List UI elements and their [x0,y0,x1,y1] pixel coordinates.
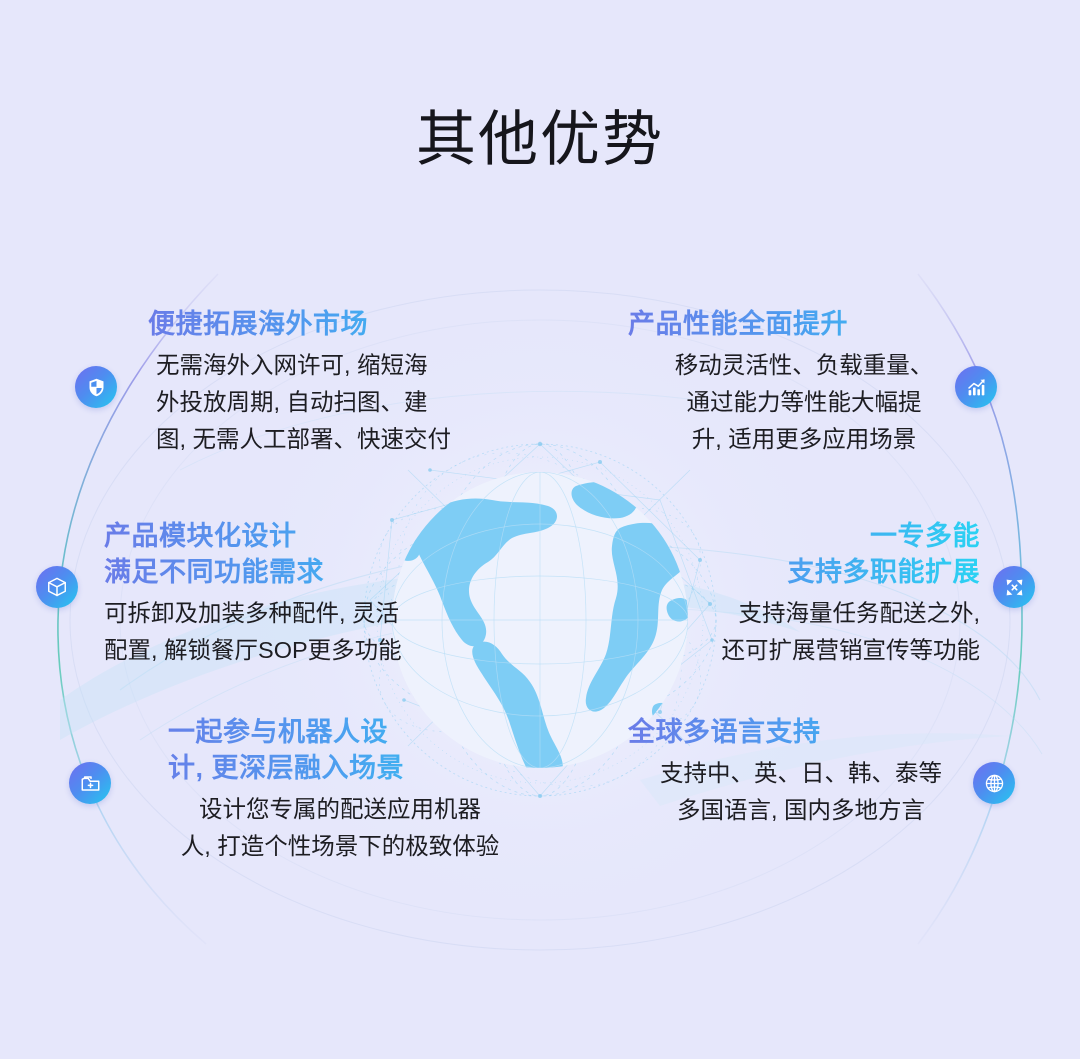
feature-heading: 一起参与机器人设 计, 更深层融入场景 [140,714,540,786]
feature-heading: 产品性能全面提升 [628,306,980,342]
feature-heading: 便捷拓展海外市场 [148,306,508,342]
feature-heading: 产品模块化设计 满足不同功能需求 [104,518,476,590]
feature-heading: 全球多语言支持 [628,714,974,750]
folder-plus-icon-badge [69,762,111,804]
cube-icon [46,576,68,598]
folder-plus-icon [80,773,101,794]
feature-body: 支持海量任务配送之外, 还可扩展营销宣传等功能 [608,595,980,669]
advantages-infographic: 其他优势 便捷拓展海外市场 无需海外入网许可, 缩短海 外投放周期, 自动扫图、… [0,0,1080,1059]
feature-body: 支持中、英、日、韩、泰等 多国语言, 国内多地方言 [628,755,974,829]
feature-multilingual: 全球多语言支持 支持中、英、日、韩、泰等 多国语言, 国内多地方言 [628,714,974,829]
feature-multifunction: 一专多能 支持多职能扩展 支持海量任务配送之外, 还可扩展营销宣传等功能 [608,518,980,669]
feature-body: 移动灵活性、负载重量、 通过能力等性能大幅提 升, 适用更多应用场景 [628,347,980,458]
feature-body: 可拆卸及加装多种配件, 灵活 配置, 解锁餐厅SOP更多功能 [104,595,476,669]
cube-icon-badge [36,566,78,608]
feature-performance-boost: 产品性能全面提升 移动灵活性、负载重量、 通过能力等性能大幅提 升, 适用更多应… [628,306,980,458]
feature-overseas-expansion: 便捷拓展海外市场 无需海外入网许可, 缩短海 外投放周期, 自动扫图、建 图, … [148,306,508,458]
growth-chart-icon [966,377,987,398]
feature-heading: 一专多能 支持多职能扩展 [608,518,980,590]
expand-arrows-icon-badge [993,566,1035,608]
globe-icon [984,773,1005,794]
shield-icon [86,377,107,398]
feature-co-design: 一起参与机器人设 计, 更深层融入场景 设计您专属的配送应用机器 人, 打造个性… [140,714,540,865]
feature-modular-design: 产品模块化设计 满足不同功能需求 可拆卸及加装多种配件, 灵活 配置, 解锁餐厅… [104,518,476,669]
page-title: 其他优势 [0,104,1080,176]
expand-arrows-icon [1004,577,1025,598]
feature-body: 无需海外入网许可, 缩短海 外投放周期, 自动扫图、建 图, 无需人工部署、快速… [148,347,508,458]
shield-icon-badge [75,366,117,408]
globe-icon-badge [973,762,1015,804]
feature-body: 设计您专属的配送应用机器 人, 打造个性场景下的极致体验 [140,791,540,865]
growth-chart-icon-badge [955,366,997,408]
